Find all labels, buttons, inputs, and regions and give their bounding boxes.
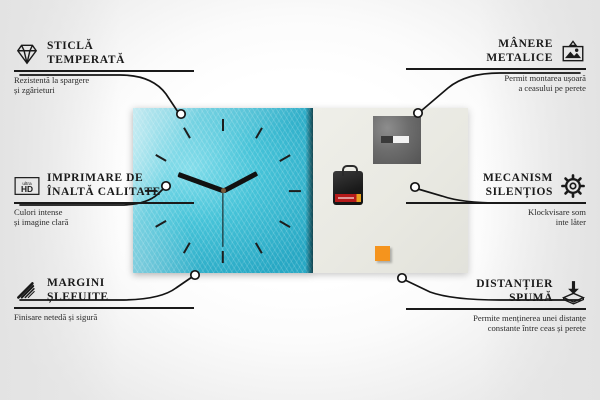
feature-title: MECANISM SILENȚIOS (483, 172, 553, 199)
metal-hanger-plate (373, 116, 421, 164)
feature-header: ultra HD IMPRIMARE DE ÎNALTĂ CALITATE (14, 172, 194, 199)
feature-manere-metalice: MÂNERE METALICE Permit montarea ușoară a… (406, 38, 586, 94)
feature-subtitle: Rezistentă la spargere și zgârieturi (14, 75, 194, 96)
clock-tick (255, 128, 263, 139)
ultra-hd-icon: ultra HD (14, 173, 40, 199)
feature-title: IMPRIMARE DE ÎNALTĂ CALITATE (47, 172, 161, 199)
svg-text:HD: HD (21, 184, 33, 194)
feature-distantier-spuma: DISTANȚIER SPUMĂ Permite menținerea unei… (406, 278, 586, 334)
feature-divider (14, 202, 194, 204)
feature-header: STICLĂ TEMPERATĂ (14, 40, 194, 67)
feature-title: DISTANȚIER SPUMĂ (476, 278, 553, 305)
feature-subtitle: Permite menținerea unei distanțe constan… (406, 313, 586, 334)
feature-header: MECANISM SILENȚIOS (406, 172, 586, 199)
clock-tick (222, 251, 224, 263)
clock-tick (280, 220, 291, 228)
hanger-slot (381, 136, 409, 143)
feature-imprimare-inalta-calitate: ultra HD IMPRIMARE DE ÎNALTĂ CALITATE Cu… (14, 172, 194, 228)
feature-subtitle: Permit montarea ușoară a ceasului pe per… (406, 73, 586, 94)
feature-divider (14, 70, 194, 72)
clock-tick (289, 190, 301, 192)
feature-header: MÂNERE METALICE (406, 38, 586, 65)
feature-divider (406, 202, 586, 204)
connector-dot-distantier (398, 274, 406, 282)
clock-tick (280, 154, 291, 162)
feature-title: MÂNERE METALICE (486, 38, 553, 65)
foam-spacer-pad (375, 246, 390, 261)
feature-title: STICLĂ TEMPERATĂ (47, 40, 125, 67)
feature-header: DISTANȚIER SPUMĂ (406, 278, 586, 305)
feature-sticla-temperata: STICLĂ TEMPERATĂ Rezistentă la spargere … (14, 40, 194, 96)
clock-hour-hand (222, 171, 258, 193)
feature-subtitle: Finisare netedă și sigură (14, 312, 194, 323)
feature-title: MARGINI ȘLEFUITE (47, 277, 109, 304)
clock-tick (183, 242, 191, 253)
feature-divider (406, 68, 586, 70)
gear-icon (560, 173, 586, 199)
feature-margini-slefuite: MARGINI ȘLEFUITE Finisare netedă și sigu… (14, 277, 194, 322)
polished-edges-icon (14, 278, 40, 304)
mechanism-hanging-loop (342, 165, 358, 176)
feature-divider (406, 308, 586, 310)
clock-tick (255, 242, 263, 253)
feature-header: MARGINI ȘLEFUITE (14, 277, 194, 304)
clock-tick (183, 128, 191, 139)
clock-tick (155, 154, 166, 162)
clock-mechanism (333, 171, 363, 205)
battery (335, 194, 361, 202)
feature-subtitle: Culori intense și imagine clară (14, 207, 194, 228)
clock-center-pin (221, 188, 226, 193)
infographic-canvas: STICLĂ TEMPERATĂ Rezistentă la spargere … (0, 0, 600, 400)
feature-mecanism-silentios: MECANISM SILENȚIOS (406, 172, 586, 228)
clock-tick (222, 119, 224, 131)
feature-subtitle: Klockvisare som inte låter (406, 207, 586, 228)
clock-second-hand (222, 191, 223, 247)
feature-divider (14, 307, 194, 309)
picture-hanger-icon (560, 39, 586, 65)
foam-spacer-icon (560, 279, 586, 305)
diamond-icon (14, 41, 40, 67)
